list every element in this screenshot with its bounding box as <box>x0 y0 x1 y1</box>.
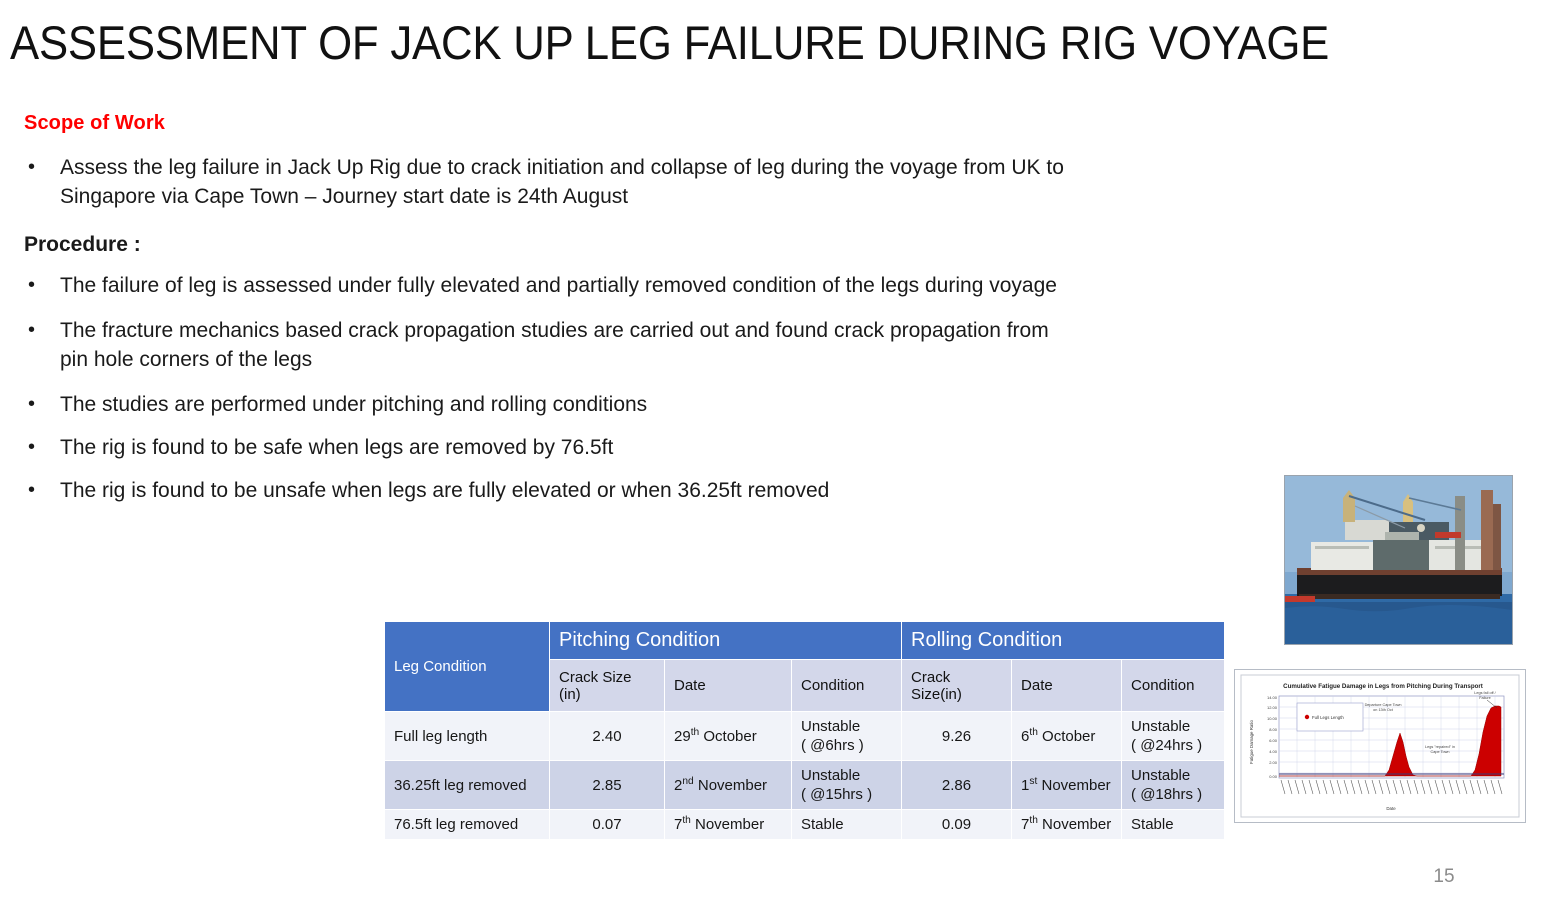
table-row: Full leg length 2.40 29th October Unstab… <box>385 712 1225 761</box>
bullet-dot-icon: • <box>24 433 60 462</box>
svg-text:Legs fall off /: Legs fall off / <box>1474 691 1496 695</box>
procedure-bullet-item: • The rig is found to be unsafe when leg… <box>24 476 1124 505</box>
bullet-dot-icon: • <box>24 476 60 505</box>
procedure-bullet-text: The failure of leg is assessed under ful… <box>60 271 1070 300</box>
cell-roll-condition: Unstable( @24hrs ) <box>1122 712 1225 761</box>
procedure-heading: Procedure : <box>24 233 1124 257</box>
header-pitching-condition-col: Condition <box>792 660 902 712</box>
header-rolling-condition-col: Condition <box>1122 660 1225 712</box>
svg-text:Cape Town: Cape Town <box>1431 750 1450 754</box>
scope-bullet-text: Assess the leg failure in Jack Up Rig du… <box>60 153 1070 211</box>
cell-leg-condition: Full leg length <box>385 712 550 761</box>
cell-roll-condition: Unstable( @18hrs ) <box>1122 761 1225 810</box>
cell-roll-date: 6th October <box>1012 712 1122 761</box>
cell-pitch-date: 7th November <box>665 810 792 840</box>
scope-bullet-item: • Assess the leg failure in Jack Up Rig … <box>24 153 1124 211</box>
cell-roll-condition: Stable <box>1122 810 1225 840</box>
svg-text:10.00: 10.00 <box>1267 716 1278 721</box>
svg-text:6.00: 6.00 <box>1269 738 1278 743</box>
table-row: 36.25ft leg removed 2.85 2nd November Un… <box>385 761 1225 810</box>
svg-text:Date: Date <box>1386 806 1396 811</box>
cell-pitch-date: 29th October <box>665 712 792 761</box>
procedure-bullet-text: The rig is found to be unsafe when legs … <box>60 476 1070 505</box>
cell-roll-crack: 0.09 <box>902 810 1012 840</box>
header-rolling-date: Date <box>1012 660 1122 712</box>
rig-photo <box>1284 475 1513 645</box>
header-pitching-condition: Pitching Condition <box>550 622 902 660</box>
header-pitching-date: Date <box>665 660 792 712</box>
svg-text:Departure Cape Town: Departure Cape Town <box>1365 703 1402 707</box>
cell-pitch-crack: 2.85 <box>550 761 665 810</box>
svg-text:Legs "repaired" in: Legs "repaired" in <box>1425 745 1455 749</box>
cell-pitch-crack: 0.07 <box>550 810 665 840</box>
cell-roll-date: 1st November <box>1012 761 1122 810</box>
svg-text:Full Legs Length: Full Legs Length <box>1312 715 1344 720</box>
svg-text:14.00: 14.00 <box>1267 695 1278 700</box>
header-leg-condition: Leg Condition <box>385 622 550 712</box>
cell-pitch-condition: Stable <box>792 810 902 840</box>
scope-of-work-heading: Scope of Work <box>24 112 1124 135</box>
bullet-dot-icon: • <box>24 271 60 300</box>
page-title: ASSESSMENT OF JACK UP LEG FAILURE DURING… <box>10 14 1312 72</box>
bullet-dot-icon: • <box>24 153 60 182</box>
cell-roll-date: 7th November <box>1012 810 1122 840</box>
cell-leg-condition: 36.25ft leg removed <box>385 761 550 810</box>
procedure-bullet-text: The fracture mechanics based crack propa… <box>60 316 1070 374</box>
cell-pitch-condition: Unstable( @15hrs ) <box>792 761 902 810</box>
procedure-bullet-text: The rig is found to be safe when legs ar… <box>60 433 1070 462</box>
table-header-group-row: Leg Condition Pitching Condition Rolling… <box>385 622 1225 660</box>
rig-photo-image <box>1285 476 1512 644</box>
cell-pitch-date: 2nd November <box>665 761 792 810</box>
results-table-container: Leg Condition Pitching Condition Rolling… <box>384 621 1225 840</box>
procedure-bullet-item: • The fracture mechanics based crack pro… <box>24 316 1124 374</box>
svg-text:8.00: 8.00 <box>1269 727 1278 732</box>
cell-roll-crack: 2.86 <box>902 761 1012 810</box>
bullet-dot-icon: • <box>24 390 60 419</box>
procedure-bullet-item: • The failure of leg is assessed under f… <box>24 271 1124 300</box>
bullet-dot-icon: • <box>24 316 60 345</box>
cell-leg-condition: 76.5ft leg removed <box>385 810 550 840</box>
results-table: Leg Condition Pitching Condition Rolling… <box>384 621 1225 840</box>
table-row: 76.5ft leg removed 0.07 7th November Sta… <box>385 810 1225 840</box>
svg-text:on 13th Oct: on 13th Oct <box>1373 708 1394 712</box>
svg-text:Fatigue Damage Ratio: Fatigue Damage Ratio <box>1249 719 1254 763</box>
svg-text:4.00: 4.00 <box>1269 749 1278 754</box>
svg-text:0.00: 0.00 <box>1269 774 1278 779</box>
cell-pitch-crack: 2.40 <box>550 712 665 761</box>
procedure-bullet-item: • The rig is found to be safe when legs … <box>24 433 1124 462</box>
procedure-bullet-text: The studies are performed under pitching… <box>60 390 1070 419</box>
header-pitching-crack-size: Crack Size (in) <box>550 660 665 712</box>
header-rolling-condition: Rolling Condition <box>902 622 1225 660</box>
slide-body: Scope of Work • Assess the leg failure i… <box>24 112 1124 519</box>
svg-text:12.00: 12.00 <box>1267 705 1278 710</box>
cell-pitch-condition: Unstable( @6hrs ) <box>792 712 902 761</box>
procedure-bullet-item: • The studies are performed under pitchi… <box>24 390 1124 419</box>
header-rolling-crack-size: Crack Size(in) <box>902 660 1012 712</box>
svg-text:2.00: 2.00 <box>1269 760 1278 765</box>
svg-text:Cumulative Fatigue Damage in L: Cumulative Fatigue Damage in Legs from P… <box>1283 683 1483 690</box>
fatigue-damage-chart-thumbnail: Cumulative Fatigue Damage in Legs from P… <box>1234 669 1526 823</box>
fatigue-damage-chart: Cumulative Fatigue Damage in Legs from P… <box>1235 670 1525 822</box>
cell-roll-crack: 9.26 <box>902 712 1012 761</box>
svg-text:Failure: Failure <box>1479 696 1491 700</box>
page-number: 15 <box>1424 866 1464 888</box>
